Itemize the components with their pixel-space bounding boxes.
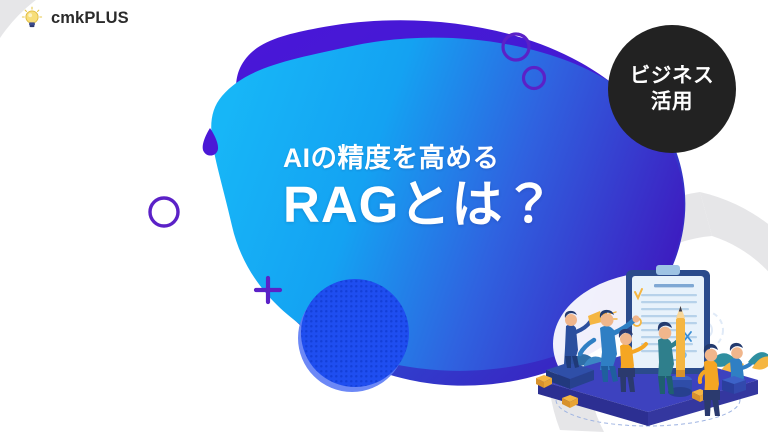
- logo-text: cmkPLUS: [51, 10, 129, 27]
- lightbulb-icon: [20, 6, 44, 30]
- illustration: [508, 252, 768, 432]
- badge-line-1: ビジネス: [630, 66, 714, 87]
- pencil: [676, 306, 685, 377]
- isometric-team-illustration: [508, 252, 768, 432]
- logo[interactable]: cmkPLUS: [20, 6, 129, 30]
- category-badge: ビジネス 活用: [608, 25, 736, 153]
- banner-canvas: cmkPLUS AIの精度を高める RAGとは？ ビジネス 活用: [0, 0, 768, 432]
- document-heading-bar: [654, 284, 694, 287]
- badge-line-2: 活用: [651, 92, 693, 113]
- headline: RAGとは？: [283, 177, 555, 233]
- subtitle: AIの精度を高める: [283, 143, 555, 173]
- title-block: AIの精度を高める RAGとは？: [283, 143, 555, 234]
- ring-left: [150, 198, 178, 226]
